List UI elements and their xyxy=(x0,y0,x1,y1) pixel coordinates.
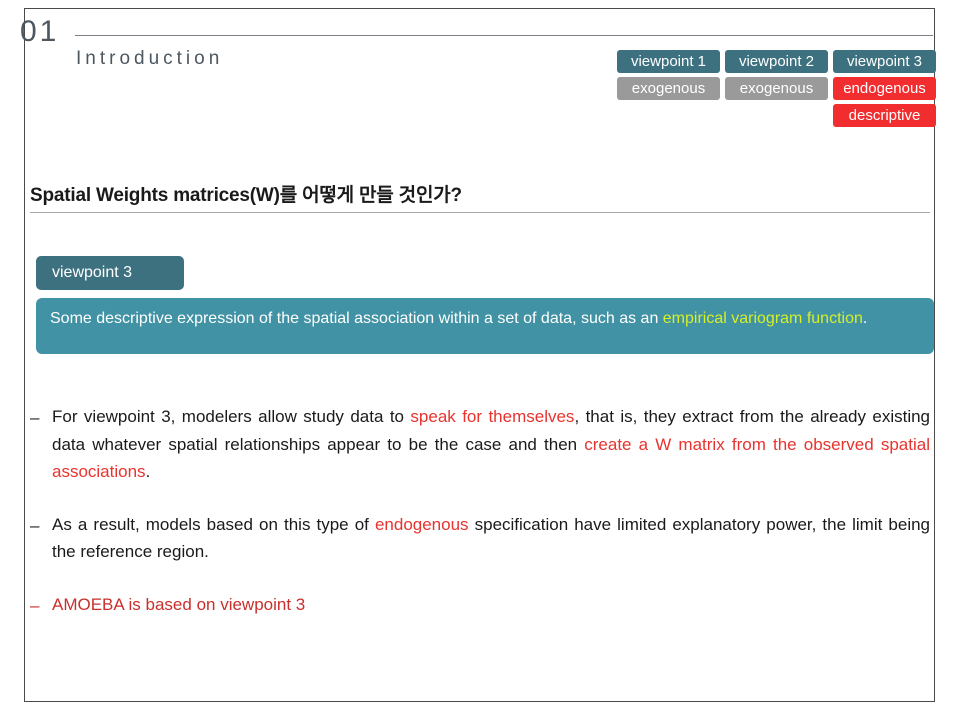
bullet-2-seg1: As a result, models based on this type o… xyxy=(52,515,375,534)
callout-text-part2: . xyxy=(863,310,867,327)
badge-row-genous: exogenous exogenous endogenous xyxy=(617,77,936,100)
badge-row-descriptive: descriptive xyxy=(833,104,936,127)
badge-viewpoint-2[interactable]: viewpoint 2 xyxy=(725,50,828,73)
bullet-1-highlight-1: speak for themselves xyxy=(410,407,574,426)
header-divider xyxy=(75,35,933,36)
bullet-2-highlight-1: endogenous xyxy=(375,515,469,534)
badge-exogenous-2[interactable]: exogenous xyxy=(725,77,828,100)
callout-body: Some descriptive expression of the spati… xyxy=(36,298,934,354)
bullet-dash-icon: – xyxy=(30,591,52,620)
bullet-1-seg1: For viewpoint 3, modelers allow study da… xyxy=(52,407,410,426)
badge-viewpoint-3[interactable]: viewpoint 3 xyxy=(833,50,936,73)
list-item: – For viewpoint 3, modelers allow study … xyxy=(30,403,930,486)
badge-endogenous[interactable]: endogenous xyxy=(833,77,936,100)
viewpoint-badge-grid: viewpoint 1 viewpoint 2 viewpoint 3 exog… xyxy=(617,50,936,127)
callout-text-part1: Some descriptive expression of the spati… xyxy=(50,310,663,327)
bullet-dash-icon: – xyxy=(30,511,52,540)
bullet-list: – For viewpoint 3, modelers allow study … xyxy=(30,403,930,644)
bullet-dash-icon: – xyxy=(30,403,52,432)
bullet-1-seg3: . xyxy=(146,462,151,481)
page-title: Spatial Weights matrices(W)를 어떻게 만들 것인가? xyxy=(30,180,462,207)
badge-row-viewpoints: viewpoint 1 viewpoint 2 viewpoint 3 xyxy=(617,50,936,73)
section-title: Introduction xyxy=(76,48,223,70)
callout-highlight: empirical variogram function xyxy=(663,310,863,327)
slide-root: 01 Introduction viewpoint 1 viewpoint 2 … xyxy=(0,0,960,720)
bullet-text-3: AMOEBA is based on viewpoint 3 xyxy=(52,591,930,619)
bullet-text-1: For viewpoint 3, modelers allow study da… xyxy=(52,403,930,486)
badge-viewpoint-1[interactable]: viewpoint 1 xyxy=(617,50,720,73)
section-number: 01 xyxy=(20,17,59,47)
badge-exogenous-1[interactable]: exogenous xyxy=(617,77,720,100)
title-divider xyxy=(30,212,930,213)
bullet-text-2: As a result, models based on this type o… xyxy=(52,511,930,566)
badge-descriptive[interactable]: descriptive xyxy=(833,104,936,127)
list-item: – AMOEBA is based on viewpoint 3 xyxy=(30,591,930,620)
list-item: – As a result, models based on this type… xyxy=(30,511,930,566)
callout-tab-viewpoint-3: viewpoint 3 xyxy=(36,256,184,290)
